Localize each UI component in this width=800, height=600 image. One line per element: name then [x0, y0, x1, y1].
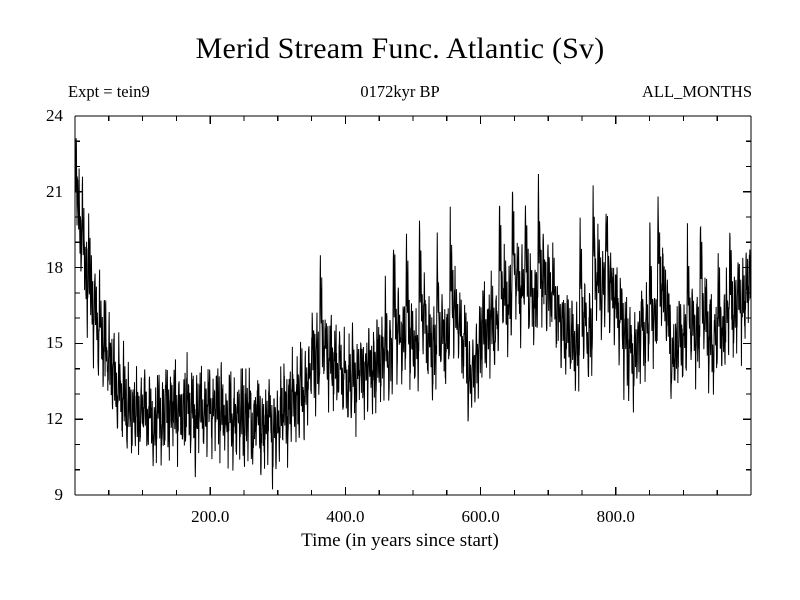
y-tick-label: 21 [0, 182, 63, 202]
y-tick-label: 12 [0, 409, 63, 429]
x-tick-label: 800.0 [597, 507, 635, 527]
chart-figure: Merid Stream Func. Atlantic (Sv) Expt = … [0, 0, 800, 600]
chart-title: Merid Stream Func. Atlantic (Sv) [0, 32, 800, 66]
data-series-line [75, 138, 751, 489]
data-series-group [75, 138, 751, 489]
header-months-label: ALL_MONTHS [642, 82, 752, 102]
y-tick-label: 9 [0, 485, 63, 505]
x-tick-label: 200.0 [191, 507, 229, 527]
x-tick-label: 400.0 [326, 507, 364, 527]
y-tick-label: 18 [0, 258, 63, 278]
x-axis-label: Time (in years since start) [0, 530, 800, 552]
y-tick-label: 24 [0, 106, 63, 126]
x-tick-label: 600.0 [461, 507, 499, 527]
y-tick-label: 15 [0, 333, 63, 353]
